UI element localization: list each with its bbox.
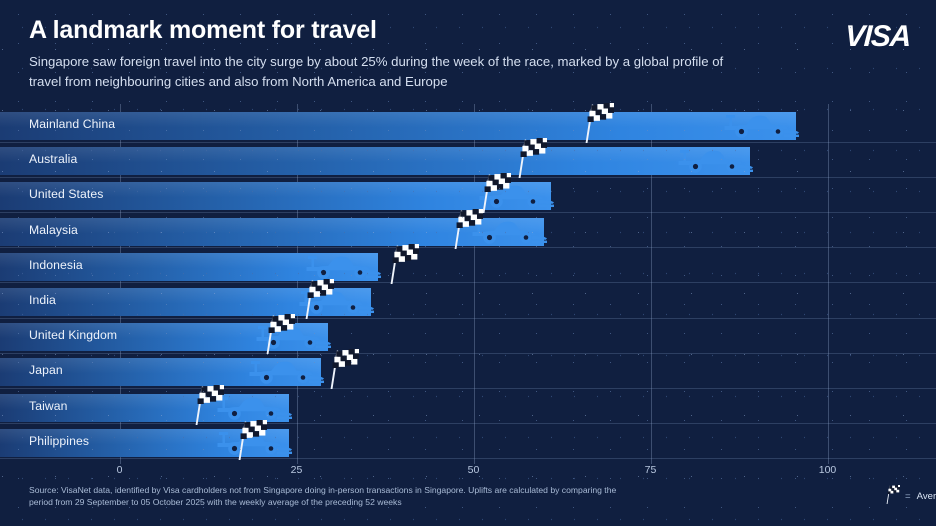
source-note: Source: VisaNet data, identified by Visa…: [29, 484, 619, 509]
checkered-flag-icon: [477, 173, 511, 213]
category-label: Australia: [29, 152, 77, 166]
chart-row: Indonesia: [0, 249, 936, 285]
bar-race-week: [0, 147, 750, 175]
category-label: United Kingdom: [29, 328, 117, 342]
chart-row: Taiwan: [0, 390, 936, 426]
f1-car-icon: [247, 355, 325, 389]
chart-header: A landmark moment for travel Singapore s…: [0, 0, 936, 104]
legend-label: Average week: [917, 491, 936, 502]
legend-item-average-week: =Average week: [884, 485, 936, 507]
checkered-flag-icon: [300, 279, 334, 319]
checkered-flag-icon: [385, 244, 419, 284]
x-tick-label-75: 75: [645, 464, 657, 476]
chart-plot-area: Mainland ChinaAustraliaUnited StatesMala…: [0, 104, 936, 464]
chart-row: India: [0, 284, 936, 320]
checkered-flag-icon: [233, 420, 267, 460]
x-tick-label-25: 25: [291, 464, 303, 476]
legend-equals-sign: =: [905, 491, 911, 502]
checkered-flag-icon: [884, 485, 900, 507]
chart-row: Japan: [0, 354, 936, 390]
category-label: India: [29, 293, 56, 307]
x-tick-label-0: 0: [117, 464, 123, 476]
category-label: Mainland China: [29, 117, 115, 131]
category-label: Philippines: [29, 434, 89, 448]
chart-row: Australia: [0, 143, 936, 179]
category-label: Japan: [29, 363, 63, 377]
x-axis: 0255075100: [0, 464, 936, 486]
f1-car-icon: [722, 109, 800, 143]
chart-row: Malaysia: [0, 214, 936, 250]
category-label: United States: [29, 187, 103, 201]
x-tick-label-100: 100: [819, 464, 837, 476]
checkered-flag-icon: [449, 209, 483, 249]
checkered-flag-icon: [513, 138, 547, 178]
x-tick-label-50: 50: [468, 464, 480, 476]
chart-row: Mainland China: [0, 108, 936, 144]
page-subtitle: Singapore saw foreign travel into the ci…: [29, 52, 729, 92]
checkered-flag-icon: [261, 314, 295, 354]
checkered-flag-icon: [190, 385, 224, 425]
page-title: A landmark moment for travel: [29, 16, 377, 45]
bar-race-week: [0, 112, 796, 140]
f1-car-icon: [676, 144, 754, 178]
category-label: Indonesia: [29, 258, 83, 272]
checkered-flag-icon: [580, 103, 614, 143]
category-label: Taiwan: [29, 399, 68, 413]
checkered-flag-icon: [325, 349, 359, 389]
row-separator: [0, 458, 936, 459]
category-label: Malaysia: [29, 223, 78, 237]
chart-row: United Kingdom: [0, 319, 936, 355]
chart-row: Philippines: [0, 425, 936, 461]
chart-footer: Source: VisaNet data, identified by Visa…: [0, 484, 936, 526]
visa-logo: VISA: [844, 20, 911, 54]
